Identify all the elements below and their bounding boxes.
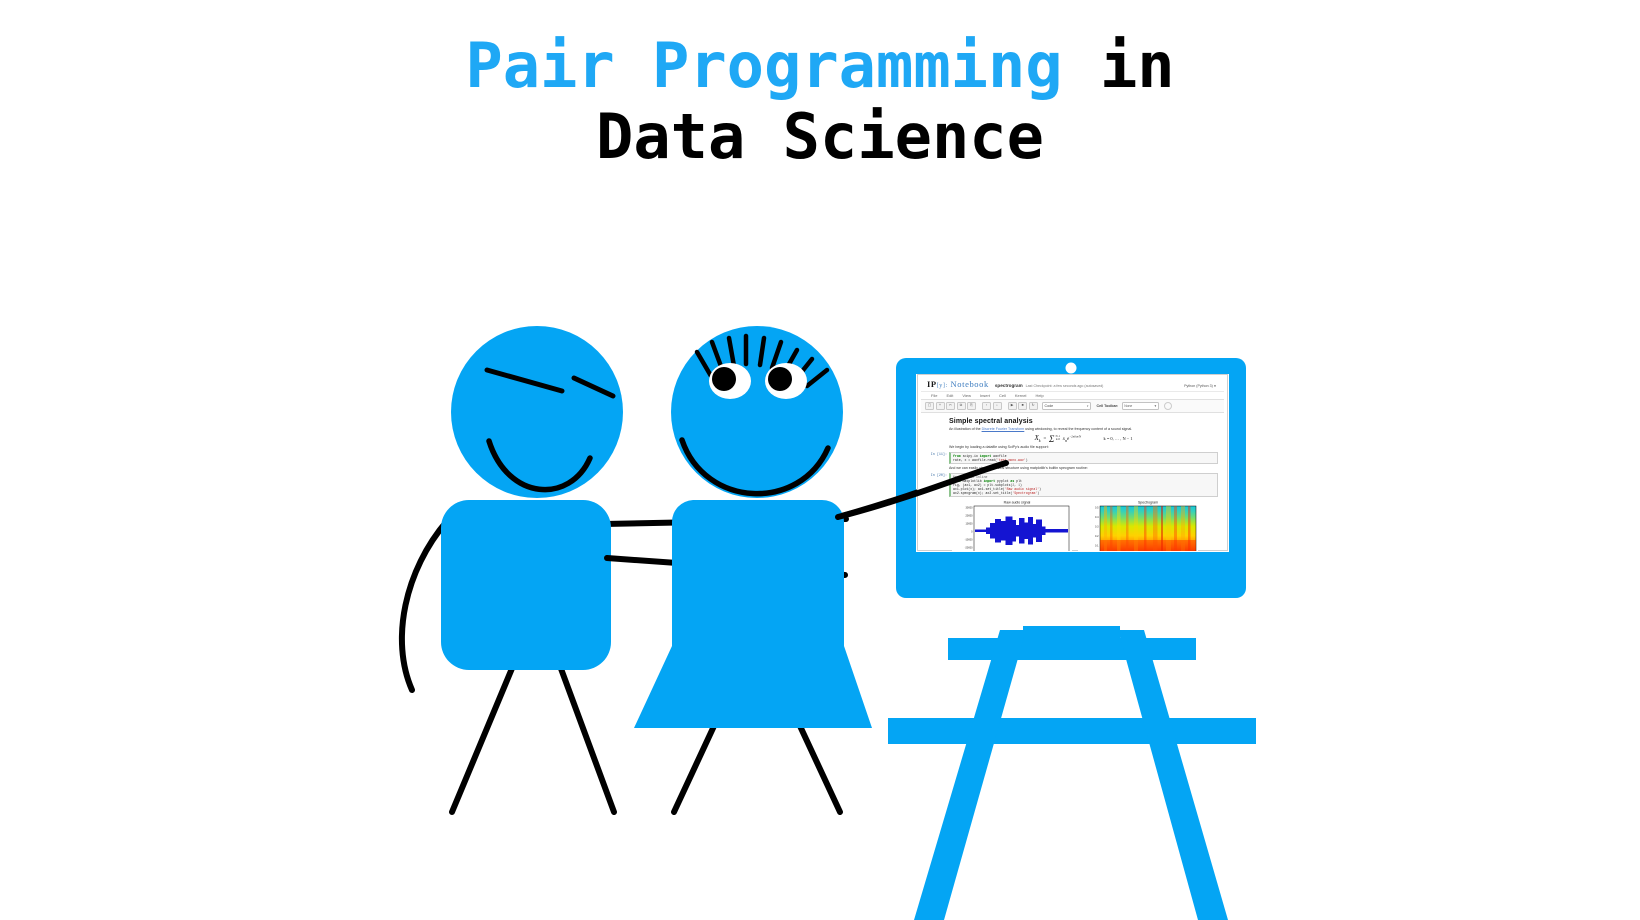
move-down-icon[interactable]: ↓ [993, 402, 1002, 410]
webcam-icon [1066, 363, 1077, 374]
checkpoint-status: Last Checkpoint: a few seconds ago (auto… [1026, 384, 1104, 388]
chart-title-spectrogram: Spectrogram [1137, 500, 1157, 504]
insert-cell-icon[interactable]: + [936, 402, 945, 410]
menu-cell[interactable]: Cell [999, 393, 1006, 398]
menu-edit[interactable]: Edit [946, 393, 953, 398]
jupyter-notebook-screen[interactable]: IP[y]: Notebook spectrogram Last Checkpo… [917, 374, 1228, 551]
logo-word: Notebook [951, 379, 989, 389]
intro-paragraph: An illustration of the Discrete Fourier … [949, 427, 1218, 432]
notebook-body: Simple spectral analysis An illustration… [921, 413, 1224, 552]
cell-2-source[interactable]: %matplotlib inline from matplotlib impor… [949, 473, 1218, 497]
svg-text:30000: 30000 [965, 506, 973, 509]
svg-text:10000: 10000 [965, 522, 973, 525]
menu-view[interactable]: View [962, 393, 971, 398]
cell-2-prompt: In [20]: [927, 473, 947, 478]
svg-text:0.5: 0.5 [1095, 506, 1099, 509]
notebook-name[interactable]: spectrogram [995, 383, 1023, 388]
logo-bracket: [y]: [937, 383, 948, 389]
menu-kernel[interactable]: Kernel [1015, 393, 1027, 398]
cell-type-select[interactable]: Code ▾ [1042, 402, 1091, 411]
logo-ip: IP [927, 379, 937, 389]
intro-prefix: An illustration of the [949, 427, 982, 431]
svg-text:0.4: 0.4 [1095, 516, 1099, 519]
menu-file[interactable]: File [931, 393, 937, 398]
cell-1-prompt: In [11]: [927, 452, 947, 457]
save-icon[interactable]: ▢ [925, 402, 934, 410]
notebook-header: IP[y]: Notebook spectrogram Last Checkpo… [921, 377, 1224, 391]
kernel-indicator[interactable]: Python (Python 3) ● [1184, 384, 1220, 388]
cell-toolbar-select[interactable]: None ▾ [1122, 402, 1159, 411]
intro-suffix: using windowing, to reveal the frequency… [1024, 427, 1132, 431]
chevron-down-icon-2: ▾ [1155, 404, 1157, 408]
svg-text:-20000: -20000 [964, 546, 972, 549]
menu-bar: File Edit View Insert Cell Kernel Help [921, 391, 1224, 400]
chart-title-waveform: Raw audio signal [1003, 500, 1030, 504]
cell-type-value: Code [1045, 404, 1054, 408]
cut-icon[interactable]: ✂ [946, 402, 955, 410]
code-cell-2[interactable]: In [20]: %matplotlib inline from matplot… [927, 473, 1218, 497]
notebook-toolbar: ▢ + ✂ ⧉ ⎘ ↑ ↓ ▶ ■ ↻ Code ▾ Cell Toolbar:… [921, 400, 1224, 413]
picnic-table-desk [888, 626, 1256, 920]
run-icon[interactable]: ▶ [1008, 402, 1017, 410]
chart-spectrogram: Spectrogram [1078, 499, 1198, 551]
restart-icon[interactable]: ↻ [1029, 402, 1038, 410]
chart-raw-audio-signal: Raw audio signal 30000 20000 10000 0 -10… [952, 499, 1072, 551]
svg-text:0.2: 0.2 [1095, 535, 1099, 538]
formula-range: k = 0, … , N − 1 [1104, 436, 1133, 441]
svg-text:0: 0 [971, 530, 973, 533]
copy-icon[interactable]: ⧉ [957, 402, 966, 410]
paste-icon[interactable]: ⎘ [967, 402, 976, 410]
menu-insert[interactable]: Insert [980, 393, 990, 398]
view-paragraph: And we can easily view its spectral stru… [949, 466, 1218, 471]
menu-help[interactable]: Help [1035, 393, 1043, 398]
svg-text:0.3: 0.3 [1095, 525, 1099, 528]
chevron-down-icon: ▾ [1087, 404, 1089, 408]
cell-toolbar-label: Cell Toolbar: [1097, 404, 1119, 408]
dft-link[interactable]: Discrete Fourier Transform [982, 427, 1025, 431]
code-cell-1[interactable]: In [11]: from scipy.io import wavfile ra… [927, 452, 1218, 464]
section-heading: Simple spectral analysis [949, 418, 1218, 425]
cell-1-source[interactable]: from scipy.io import wavfile rate, x = w… [949, 452, 1218, 464]
slide-canvas: Pair Programming in Data Science [0, 0, 1640, 920]
svg-text:20000: 20000 [965, 514, 973, 517]
move-up-icon[interactable]: ↑ [982, 402, 991, 410]
load-paragraph: We begin by loading a datafile using Sci… [949, 445, 1218, 450]
ipython-logo[interactable]: IP[y]: Notebook [927, 379, 989, 389]
dft-formula: Xk = Σ N−1n=0 xne−2πi kn/N k = 0, … , N … [949, 434, 1218, 443]
stop-icon[interactable]: ■ [1018, 402, 1027, 410]
svg-text:0.1: 0.1 [1095, 544, 1099, 547]
illustration [0, 0, 1640, 920]
cell-2-output: Raw audio signal 30000 20000 10000 0 -10… [931, 499, 1218, 551]
cell-toolbar-value: None [1124, 404, 1132, 408]
kernel-busy-indicator [1164, 402, 1172, 410]
svg-text:-10000: -10000 [964, 538, 972, 541]
